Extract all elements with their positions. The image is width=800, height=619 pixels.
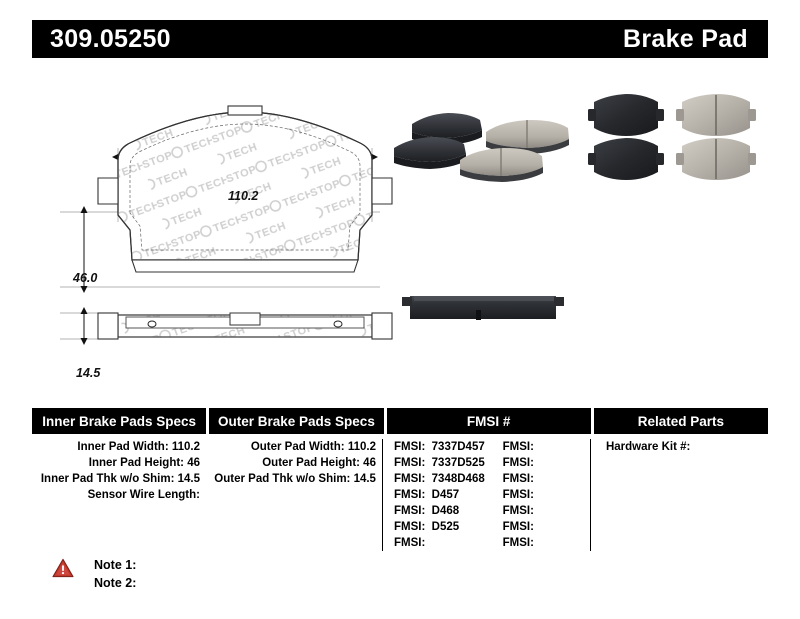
dimension-height-label: 46.0 [73, 271, 97, 285]
inner-specs-cell: Inner Pad Width: 110.2 Inner Pad Height:… [32, 439, 206, 551]
fmsi-column-right: FMSI: FMSI: FMSI: FMSI: FMSI: FMSI: FMSI… [503, 439, 590, 551]
note-line: Note 2: [94, 574, 136, 592]
product-photo-edge-view [398, 280, 568, 330]
dimension-width-label: 110.2 [228, 189, 258, 203]
outer-spec-row: Outer Pad Thk w/o Shim: 14.5 [209, 471, 376, 487]
fmsi-row: FMSI: [503, 487, 590, 503]
fmsi-cell: FMSI: 7337D457 FMSI: 7337D525 FMSI: 7348… [386, 439, 591, 551]
inner-spec-row: Inner Pad Height: 46 [32, 455, 200, 471]
fmsi-row: FMSI: D468 [394, 503, 503, 519]
notes-section: Note 1: Note 2: [52, 556, 136, 592]
note-line: Note 1: [94, 556, 136, 574]
technical-drawing: STOP TECH STOP TECH [40, 100, 440, 370]
fmsi-row: FMSI: D457 [394, 487, 503, 503]
notes-text: Note 1: Note 2: [94, 556, 136, 592]
dimension-thickness-label: 14.5 [76, 366, 100, 380]
fmsi-row: FMSI: 7337D457 [394, 439, 503, 455]
inner-spec-row: Inner Pad Thk w/o Shim: 14.5 [32, 471, 200, 487]
inner-spec-row: Inner Pad Width: 110.2 [32, 439, 200, 455]
column-header-inner-specs: Inner Brake Pads Specs [32, 408, 206, 434]
warning-triangle-icon [52, 558, 74, 578]
column-header-related-parts: Related Parts [594, 408, 768, 434]
page-header: 309.05250 Brake Pad [32, 20, 768, 58]
fmsi-row: FMSI: [503, 519, 590, 535]
column-header-outer-specs: Outer Brake Pads Specs [209, 408, 383, 434]
fmsi-row: FMSI: 7348D468 [394, 471, 503, 487]
fmsi-row: FMSI: [503, 471, 590, 487]
fmsi-row: FMSI: [503, 535, 590, 551]
outer-spec-row: Outer Pad Width: 110.2 [209, 439, 376, 455]
pad-side-view [98, 308, 392, 348]
fmsi-row: FMSI: [503, 503, 590, 519]
fmsi-row: FMSI: D525 [394, 519, 503, 535]
page-title: Brake Pad [623, 27, 748, 52]
product-photo-angled-pads [390, 90, 570, 190]
part-number: 309.05250 [50, 27, 171, 52]
product-illustration-area: STOP TECH STOP TECH [0, 70, 800, 390]
outer-specs-cell: Outer Pad Width: 110.2 Outer Pad Height:… [209, 439, 383, 551]
related-parts-row: Hardware Kit #: [606, 439, 768, 455]
inner-spec-row: Sensor Wire Length: [32, 487, 200, 503]
product-photo-flat-pads [578, 88, 758, 188]
spec-table-header-row: Inner Brake Pads Specs Outer Brake Pads … [32, 408, 768, 434]
spec-table: Inner Brake Pads Specs Outer Brake Pads … [32, 408, 768, 551]
outer-spec-row: Outer Pad Height: 46 [209, 455, 376, 471]
fmsi-row: FMSI: [394, 535, 503, 551]
fmsi-row: FMSI: 7337D525 [394, 455, 503, 471]
spec-table-body: Inner Pad Width: 110.2 Inner Pad Height:… [32, 439, 768, 551]
fmsi-row: FMSI: [503, 455, 590, 471]
fmsi-row: FMSI: [503, 439, 590, 455]
related-parts-cell: Hardware Kit #: [594, 439, 768, 551]
fmsi-column-left: FMSI: 7337D457 FMSI: 7337D525 FMSI: 7348… [394, 439, 503, 551]
column-header-fmsi: FMSI # [387, 408, 591, 434]
